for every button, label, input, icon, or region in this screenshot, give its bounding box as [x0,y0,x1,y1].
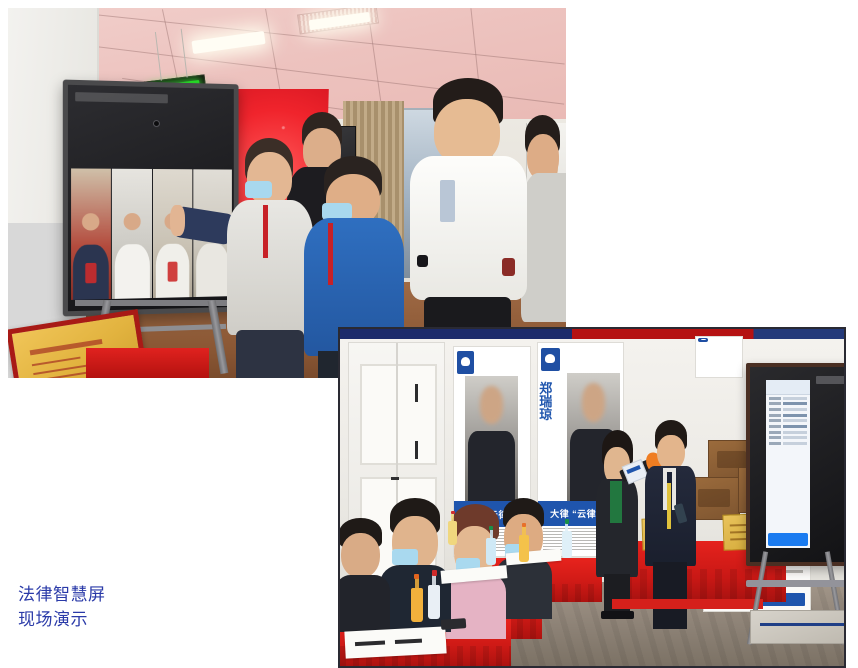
banner-portrait-face [480,386,503,424]
screen-brand-label [816,376,846,384]
app-submit-button[interactable] [768,533,808,546]
water-bottle [428,585,440,619]
caption-line-1: 法律智慧屏 [18,583,106,608]
person-legs [653,562,686,629]
photo-caption: 法律智慧屏 现场演示 [18,583,106,632]
person-torso [521,173,566,322]
banner-portrait-face [582,383,605,421]
person-torso [446,574,506,639]
drink-bottle [448,521,457,545]
form-row[interactable] [769,408,808,411]
form-row[interactable] [769,436,808,439]
door-hinge [415,441,418,459]
smart-display-screen[interactable] [746,363,846,566]
paper-document [344,626,446,658]
person-hand [170,205,184,236]
table-skirt-strip [612,599,763,609]
person-scarf [610,481,622,523]
attendee-person-pointing [226,138,315,379]
person-head [341,533,381,579]
attendee-person [521,115,566,322]
banner-logo-icon [541,348,560,371]
participant-body [115,244,149,299]
banner-portrait-photo [465,376,518,501]
cropped-banner-strip [340,329,844,339]
floor-carton [750,610,846,644]
form-row[interactable] [769,431,808,434]
participant-body [196,243,229,297]
smartphone[interactable] [440,618,466,630]
person-torso [227,200,313,335]
form-row[interactable] [769,414,808,417]
person-legs [604,574,629,616]
standing-attendee [595,430,640,619]
smart-display-board [63,80,239,317]
rollup-banner-small [695,336,742,378]
person-torso [410,156,527,300]
banner-person-name: 郑瑞琼 [539,382,553,422]
person-legs [236,330,304,378]
banner-logo-icon [698,338,708,342]
legal-form-app-panel[interactable] [766,380,810,548]
app-header-bar [766,380,810,394]
presenter-person [642,420,697,629]
red-table-cloth [86,348,209,378]
seated-attendee [338,518,390,633]
door-hinge [415,384,418,402]
smart-screen-demo-photo: 云 [8,8,566,378]
form-row[interactable] [769,402,808,405]
board-camera-icon [152,120,159,127]
person-lanyard [263,205,267,258]
juice-bottle [411,588,423,622]
person-lanyard [328,223,333,285]
stand-tray [746,580,846,587]
screen-stand [743,551,846,645]
water-bottle [486,538,496,565]
person-wrist-watch [502,258,515,276]
form-row[interactable] [769,419,808,422]
participant-head [82,213,99,230]
door-handle[interactable] [391,477,399,480]
form-row[interactable] [769,397,808,400]
participant-lanyard [85,263,96,284]
person-shoes [601,611,634,619]
form-row[interactable] [769,442,808,445]
person-face-mask [392,549,419,565]
carton-stripe [760,623,846,626]
participant-lanyard [168,261,178,282]
person-face-mask [245,181,272,198]
banner-logo-icon [457,351,474,374]
person-shirt-pocket [440,180,455,222]
form-row[interactable] [769,425,808,428]
video-participant-tile [70,169,111,300]
person-torso [338,575,390,632]
ceiling-light [192,31,266,54]
caption-line-2: 现场演示 [18,608,106,633]
person-lanyard [667,483,671,529]
app-form-rows [766,395,810,533]
water-bottle [562,531,572,558]
person-wrist-band [417,255,429,267]
board-stand-bar [75,300,242,306]
plaque-text-line [31,356,80,366]
juice-bottle [519,535,529,562]
person-head [657,435,685,471]
video-participant-tile [112,169,152,299]
banner-portrait-suit [468,431,515,501]
seminar-demo-photo: 大律 “云律所” 郑瑞琼 大律 “云律所” [338,327,846,668]
slide-canvas: 云 [0,0,858,668]
participant-head [124,213,141,230]
